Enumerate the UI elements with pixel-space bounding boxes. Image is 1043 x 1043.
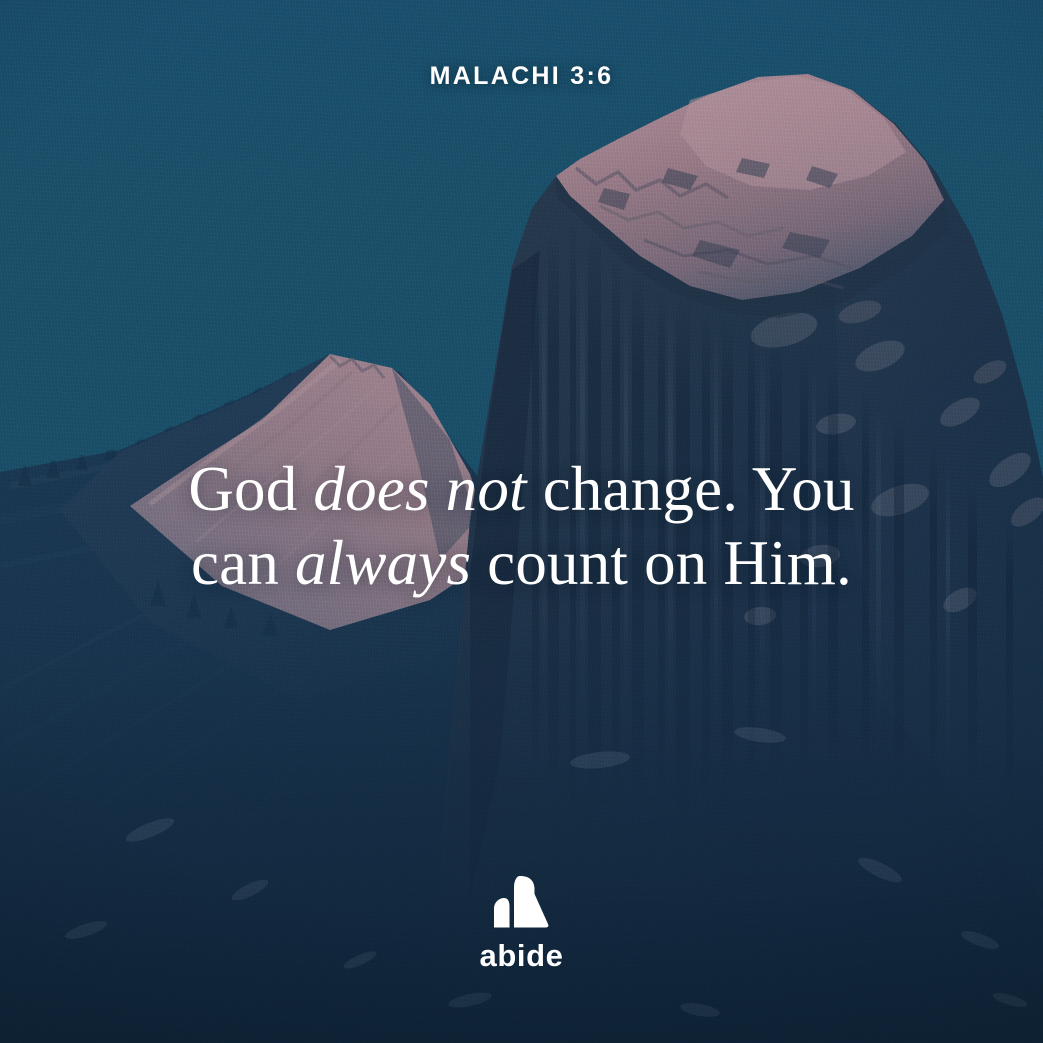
verse-card: MALACHI 3:6 God does not change. You can… (0, 0, 1043, 1043)
brand-wordmark: abide (480, 940, 564, 971)
brand-lockup[interactable]: abide (0, 874, 1043, 971)
quote-emphasis-2: always (295, 528, 471, 598)
quote-part-3: count on Him. (471, 528, 852, 598)
abide-a-mark-icon (486, 874, 558, 930)
verse-quote: God does not change. You can always coun… (0, 452, 1043, 600)
quote-emphasis-1: does not (313, 454, 526, 524)
scripture-reference: MALACHI 3:6 (0, 62, 1043, 91)
quote-part-1: God (188, 454, 313, 524)
